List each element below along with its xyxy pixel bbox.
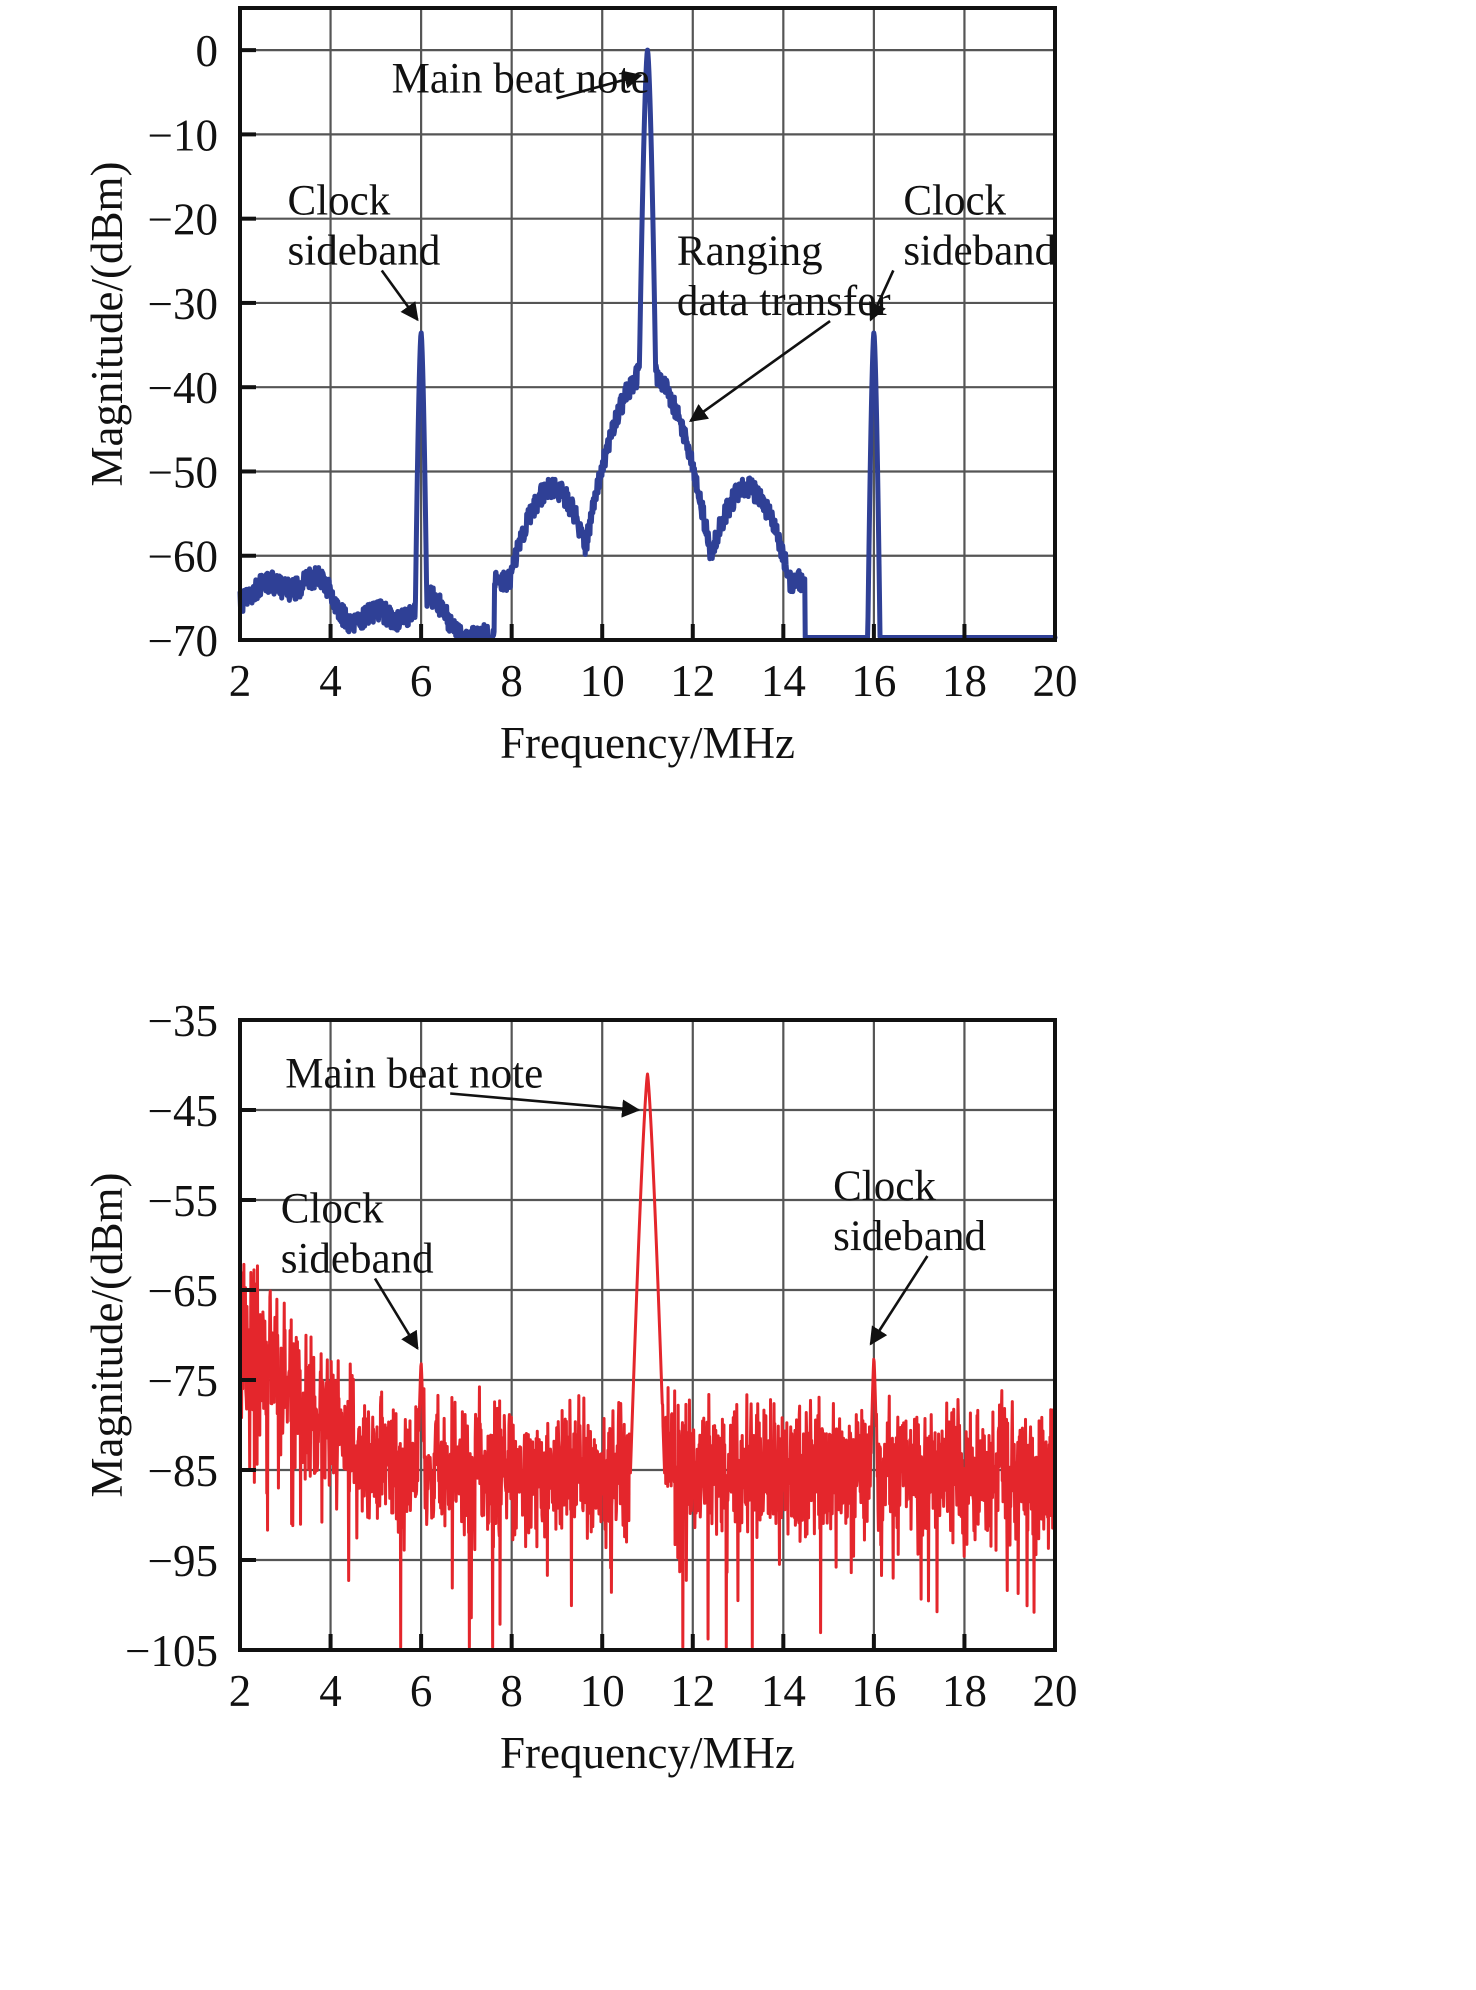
annotation: Clocksideband bbox=[288, 177, 441, 319]
x-tick-label: 12 bbox=[670, 1666, 715, 1716]
x-tick-label: 12 bbox=[670, 656, 715, 706]
y-axis-title: Magnitude/(dBm) bbox=[82, 162, 132, 487]
plot-frame bbox=[240, 8, 1055, 640]
x-tick-label: 14 bbox=[761, 1666, 806, 1716]
annotation-label: Clock bbox=[833, 1163, 936, 1210]
y-tick-label: 0 bbox=[196, 26, 219, 76]
annotation-label: Ranging bbox=[677, 228, 823, 275]
y-tick-label: −30 bbox=[148, 279, 218, 329]
annotation-leader bbox=[691, 321, 831, 421]
y-tick-label: −10 bbox=[148, 110, 218, 160]
annotation-label: sideband bbox=[833, 1213, 986, 1260]
spectrum-figure: 24681012141618200−10−20−30−40−50−60−70Fr… bbox=[0, 0, 1476, 1990]
y-tick-label: −75 bbox=[148, 1356, 218, 1406]
annotation-leader bbox=[450, 1094, 638, 1111]
top-spectrum-panel: 24681012141618200−10−20−30−40−50−60−70Fr… bbox=[0, 0, 1476, 960]
x-tick-label: 20 bbox=[1033, 1666, 1078, 1716]
x-tick-label: 16 bbox=[851, 1666, 896, 1716]
annotation-leader bbox=[871, 1256, 928, 1344]
annotation-label: Main beat note bbox=[285, 1051, 543, 1098]
y-tick-label: −95 bbox=[148, 1536, 218, 1586]
x-tick-label: 18 bbox=[942, 656, 987, 706]
plot-frame bbox=[240, 1020, 1055, 1650]
y-tick-label: −105 bbox=[125, 1626, 218, 1676]
x-tick-label: 18 bbox=[942, 1666, 987, 1716]
x-tick-label: 6 bbox=[410, 656, 433, 706]
x-tick-label: 2 bbox=[229, 1666, 252, 1716]
annotation: Clocksideband bbox=[281, 1186, 434, 1349]
y-tick-label: −55 bbox=[148, 1176, 218, 1226]
x-tick-label: 8 bbox=[500, 1666, 523, 1716]
bottom-spectrum-svg: 2468101214161820−35−45−55−65−75−85−95−10… bbox=[0, 960, 1476, 1990]
y-tick-label: −85 bbox=[148, 1446, 218, 1496]
annotation-label: data transfer bbox=[677, 278, 891, 325]
x-tick-label: 10 bbox=[580, 656, 625, 706]
y-tick-label: −35 bbox=[148, 996, 218, 1046]
gridlines bbox=[240, 1020, 1055, 1650]
x-tick-label: 10 bbox=[580, 1666, 625, 1716]
annotation: Clocksideband bbox=[833, 1163, 986, 1344]
annotation-label: sideband bbox=[281, 1236, 434, 1283]
bottom-spectrum-panel: 2468101214161820−35−45−55−65−75−85−95−10… bbox=[0, 960, 1476, 1990]
annotation-label: sideband bbox=[288, 227, 441, 274]
annotation-label: sideband bbox=[903, 227, 1056, 274]
y-tick-label: −20 bbox=[148, 195, 218, 245]
x-tick-label: 6 bbox=[410, 1666, 433, 1716]
y-tick-label: −40 bbox=[148, 363, 218, 413]
y-tick-label: −65 bbox=[148, 1266, 218, 1316]
x-tick-label: 16 bbox=[851, 656, 896, 706]
spectrum-trace bbox=[240, 50, 1055, 637]
spectrum-trace bbox=[240, 1074, 1055, 1647]
x-tick-label: 8 bbox=[500, 656, 523, 706]
x-tick-label: 20 bbox=[1033, 656, 1078, 706]
x-tick-label: 4 bbox=[319, 1666, 342, 1716]
annotation: Main beat note bbox=[392, 55, 650, 102]
x-tick-label: 4 bbox=[319, 656, 342, 706]
y-tick-label: −70 bbox=[148, 616, 218, 666]
annotation-label: Clock bbox=[288, 177, 391, 224]
x-tick-label: 14 bbox=[761, 656, 806, 706]
x-tick-label: 2 bbox=[229, 656, 252, 706]
annotation: Main beat note bbox=[285, 1051, 638, 1111]
y-axis-title: Magnitude/(dBm) bbox=[82, 1173, 132, 1498]
y-tick-label: −60 bbox=[148, 532, 218, 582]
top-spectrum-svg: 24681012141618200−10−20−30−40−50−60−70Fr… bbox=[0, 0, 1476, 960]
annotation-label: Clock bbox=[281, 1186, 384, 1233]
y-tick-label: −50 bbox=[148, 447, 218, 497]
annotation-leader bbox=[382, 270, 418, 319]
annotation-label: Clock bbox=[903, 177, 1006, 224]
x-axis-title: Frequency/MHz bbox=[500, 718, 795, 768]
gridlines bbox=[240, 8, 1055, 640]
x-axis-title: Frequency/MHz bbox=[500, 1728, 795, 1778]
y-tick-label: −45 bbox=[148, 1086, 218, 1136]
annotation-label: Main beat note bbox=[392, 55, 650, 102]
